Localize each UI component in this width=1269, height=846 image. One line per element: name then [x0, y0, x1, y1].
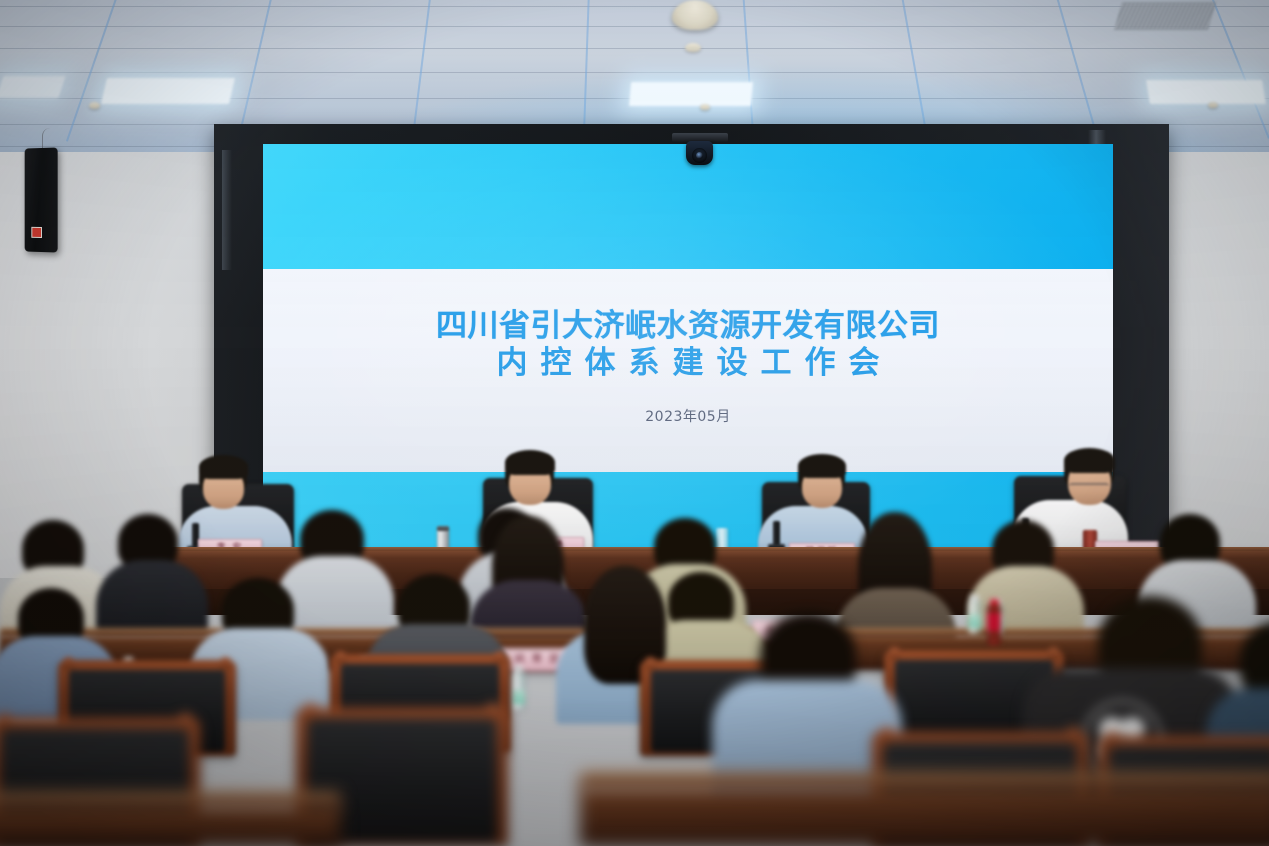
- front-table: [580, 788, 1269, 846]
- wall-speaker: [25, 147, 58, 252]
- smoke-detector-icon: [700, 104, 710, 110]
- water-bottle: [512, 670, 525, 710]
- ceiling-light-panel: [0, 76, 66, 98]
- slide-top-band: [263, 144, 1113, 269]
- slide-date: 2023年05月: [263, 406, 1113, 426]
- eyeglasses-icon: [1069, 483, 1109, 494]
- speaker-logo-icon: [31, 227, 42, 238]
- wall-right-panel: [1160, 120, 1269, 580]
- ceiling-light-panel: [629, 82, 753, 106]
- smoke-detector-icon: [89, 102, 100, 109]
- ceiling-light-panel: [101, 78, 235, 104]
- conference-room-photo: 四川省引大济岷水资源开发有限公司 内控体系建设工作会 2023年05月: [0, 0, 1269, 846]
- projected-slide: 四川省引大济岷水资源开发有限公司 内控体系建设工作会 2023年05月: [263, 144, 1113, 556]
- air-vent-grille: [1114, 2, 1216, 30]
- smoke-detector-icon: [1208, 102, 1218, 108]
- slide-title-line2: 内控体系建设工作会: [263, 344, 1113, 384]
- front-table: [0, 806, 340, 846]
- bezel-sheen: [222, 150, 232, 270]
- slide-title-line1: 四川省引大济岷水资源开发有限公司: [263, 307, 1113, 347]
- water-bottle: [968, 600, 981, 634]
- ceiling-light-panel: [1146, 80, 1266, 104]
- smoke-detector-icon: [685, 43, 701, 52]
- cola-bottle: [987, 604, 1001, 646]
- ceiling-speaker: [672, 0, 718, 30]
- camera-lens-inner-icon: [696, 152, 703, 159]
